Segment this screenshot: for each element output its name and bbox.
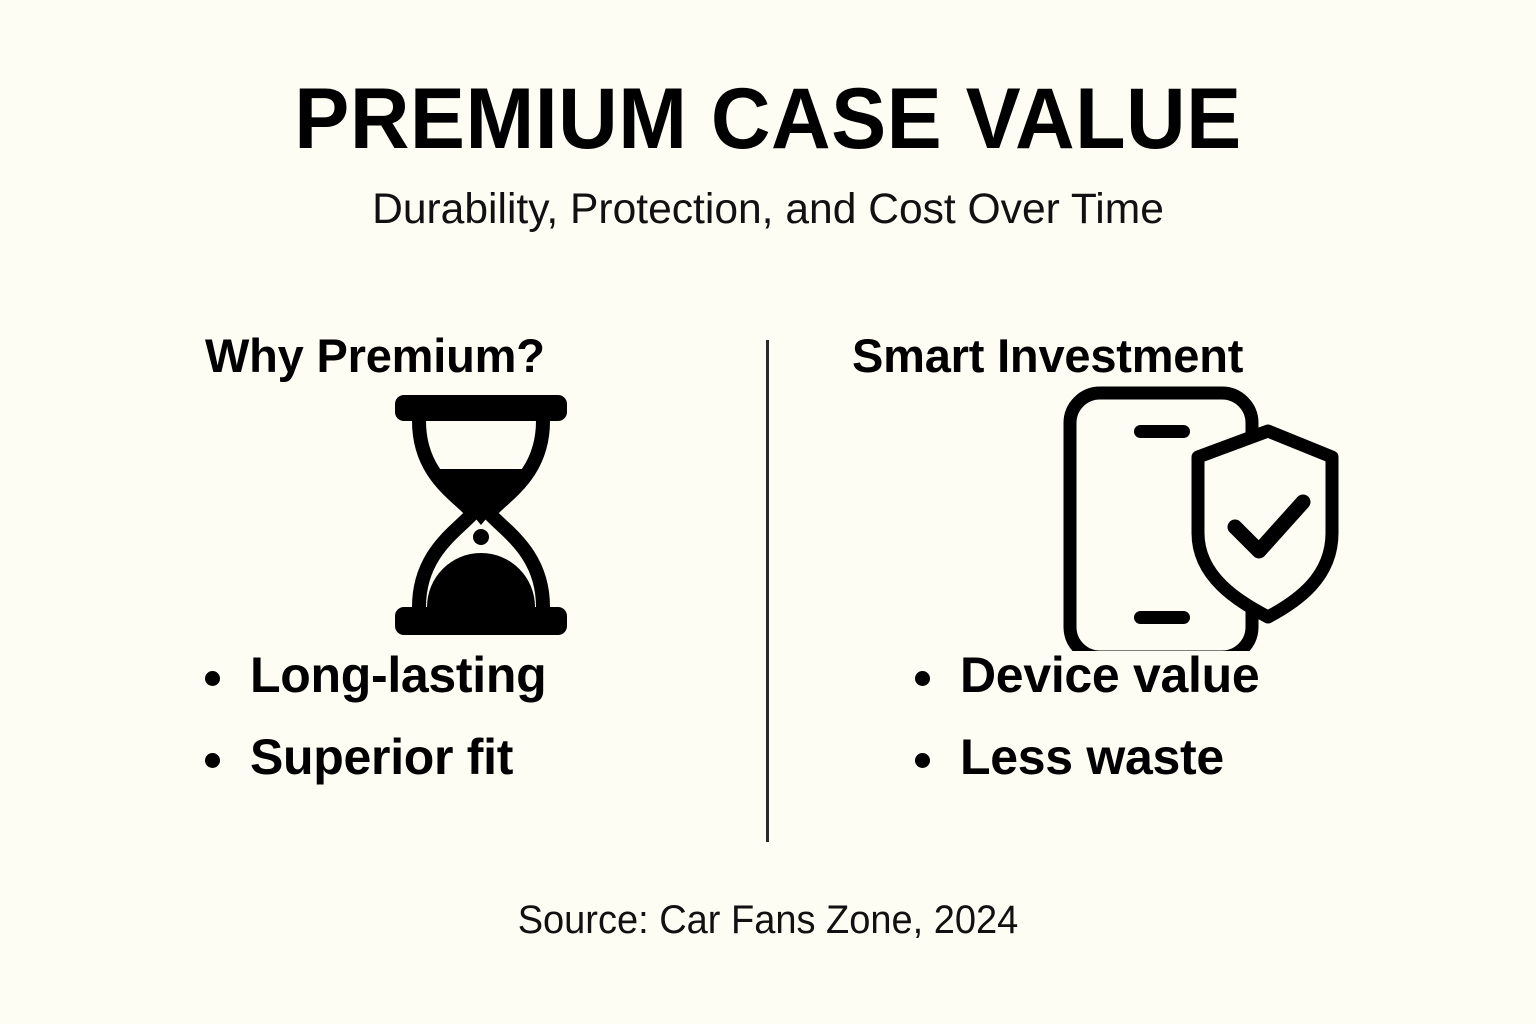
bullet-dot-icon: [205, 753, 220, 768]
page-title: PREMIUM CASE VALUE: [31, 76, 1506, 164]
bullet-label: Long-lasting: [250, 647, 546, 703]
column-heading-left: Why Premium?: [60, 330, 760, 382]
list-item: Superior fit: [205, 732, 760, 782]
bullet-list-left: Long-lasting Superior fit: [60, 650, 760, 782]
header: PREMIUM CASE VALUE Durability, Protectio…: [0, 76, 1536, 233]
icon-wrap-right: [790, 382, 1490, 650]
infographic-canvas: PREMIUM CASE VALUE Durability, Protectio…: [0, 0, 1536, 1024]
bullet-dot-icon: [915, 753, 930, 768]
column-why-premium: Why Premium?: [60, 330, 760, 860]
bullet-dot-icon: [205, 671, 220, 686]
footer: Source: Car Fans Zone, 2024: [0, 898, 1536, 942]
page-subtitle: Durability, Protection, and Cost Over Ti…: [8, 164, 1529, 233]
bullet-label: Device value: [960, 647, 1259, 703]
hourglass-icon: [391, 391, 571, 641]
source-attribution: Source: Car Fans Zone, 2024: [38, 898, 1497, 942]
bullet-list-right: Device value Less waste: [790, 650, 1490, 782]
columns-container: Why Premium?: [0, 330, 1536, 860]
icon-wrap-left: [60, 382, 760, 650]
list-item: Long-lasting: [205, 650, 760, 700]
phone-shield-check-icon: [1060, 381, 1340, 651]
bullet-label: Less waste: [960, 729, 1224, 785]
list-item: Device value: [915, 650, 1490, 700]
column-smart-investment: Smart Investment De: [790, 330, 1490, 860]
column-divider: [766, 340, 769, 842]
column-heading-right: Smart Investment: [790, 330, 1490, 382]
bullet-label: Superior fit: [250, 729, 513, 785]
list-item: Less waste: [915, 732, 1490, 782]
bullet-dot-icon: [915, 671, 930, 686]
